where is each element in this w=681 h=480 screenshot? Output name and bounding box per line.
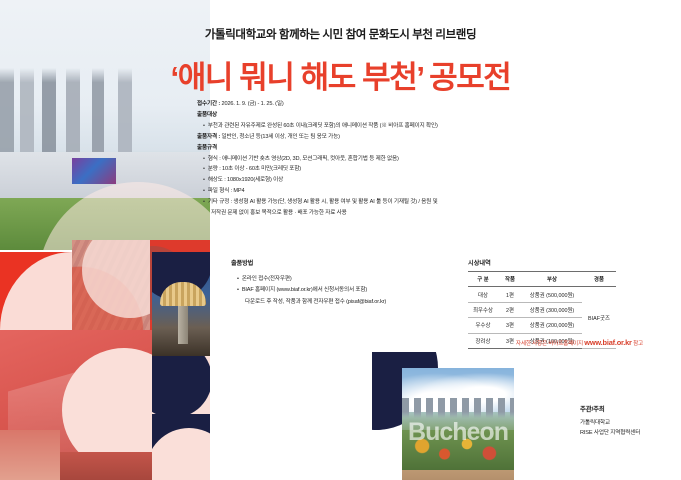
photo-brick-path	[72, 240, 150, 330]
cell-count: 3편	[498, 318, 522, 333]
bucheon-sign-text: Bucheon	[406, 418, 510, 447]
cream-curve-overlay	[82, 240, 150, 318]
header-kicker: 가톨릭대학교와 함께하는 시민 참여 문화도시 부천 리브랜딩	[0, 26, 681, 42]
apply-item-download-cont: 다운로드 후 작성, 작품과 함께 전자우편 접수 (pisaf@biaf.or…	[231, 297, 446, 308]
how-to-apply-block: 출품방법 온라인 접수(전자우편) BIAF 홈페이지 (www.biaf.or…	[231, 258, 446, 308]
apply-item-download: BIAF 홈페이지 (www.biaf.or.kr)에서 신청서동의서 포함)	[231, 285, 446, 296]
col-header-grade: 구 분	[468, 272, 498, 287]
cell-prize: 상품권 (300,000원)	[522, 302, 582, 317]
cell-grade: 최우수상	[468, 302, 498, 317]
poster-canvas: Bucheon 가톨릭대학교와 함께하는 시민 참여 문화도시 부천 리브랜딩 …	[0, 0, 681, 480]
spec-item-etc: 기타 규정 : 생성형 AI 활용 가능(단, 생성형 AI 활용 시, 활용 …	[197, 197, 453, 208]
media-screen-shape	[72, 158, 116, 184]
submission-info-block: 접수기간 : 2026. 1. 9. (금) - 1. 25. (일) 출품대상…	[197, 99, 453, 219]
period-value: 2026. 1. 9. (금) - 1. 25. (일)	[222, 101, 284, 107]
poster-header: 가톨릭대학교와 함께하는 시민 참여 문화도시 부천 리브랜딩 ‘애니 뭐니 해…	[0, 26, 681, 97]
website-note: 자세한 사항은 비아프홈페이지 www.biaf.or.kr 참고	[468, 338, 643, 347]
photo-night-tower	[152, 252, 210, 357]
cell-grade: 대상	[468, 287, 498, 302]
navy-lower-shape	[152, 414, 210, 480]
page-title: ‘애니 뭐니 해도 부천’ 공모전	[0, 52, 681, 97]
eligibility-label: 출품자격 :	[197, 134, 222, 140]
website-note-prefix: 자세한 사항은 비아프홈페이지	[516, 341, 584, 347]
col-header-goods: 경품	[582, 272, 616, 287]
target-value: 부천과 관련된 자유주제로 완성된 60초 이내(크레딧 포함)의 애니메이션 …	[197, 121, 453, 132]
host-block: 주관/주최 가톨릭대학교 RISE 사업단 지역협력센터	[580, 404, 675, 439]
cell-count: 1편	[498, 287, 522, 302]
spec-label: 출품규격	[197, 143, 453, 154]
period-row: 접수기간 : 2026. 1. 9. (금) - 1. 25. (일)	[197, 99, 453, 110]
red-quarter-shape	[0, 252, 72, 330]
photo-bucheon-flower-garden: Bucheon	[402, 368, 514, 480]
eligibility-row: 출품자격 : 일반인, 청소년 등(13세 이상, 개인 또는 팀 응모 가능)	[197, 132, 453, 143]
spec-item-resolution: 해상도 : 1080x1920(세로형) 이상	[197, 175, 453, 186]
skyline-shape	[402, 398, 514, 418]
cell-count: 2편	[498, 302, 522, 317]
table-header-row: 구 분 작품 부상 경품	[468, 272, 616, 287]
host-line-2: RISE 사업단 지역협력센터	[580, 428, 675, 438]
website-url[interactable]: www.biaf.or.kr	[584, 338, 631, 347]
target-label: 출품대상	[197, 110, 453, 121]
table-row: 대상 1편 상품권 (500,000원) BIAF굿즈	[468, 287, 616, 302]
cell-prize: 상품권 (200,000원)	[522, 318, 582, 333]
spec-item-filetype: 파일 형식 : MP4	[197, 186, 453, 197]
host-line-1: 가톨릭대학교	[580, 418, 675, 428]
awards-block: 시상내역 구 분 작품 부상 경품 대상 1편 상품권 (500,000원) B…	[468, 258, 628, 349]
navy-circle-shape	[152, 356, 210, 418]
spec-item-duration: 분량 : 10초 이상 - 60초 미만(크레딧 포함)	[197, 164, 453, 175]
awards-label: 시상내역	[468, 258, 628, 267]
col-header-prize: 부상	[522, 272, 582, 287]
host-label: 주관/주최	[580, 404, 675, 416]
spec-item-etc-cont: 저작권 문제 없이 홍보 목적으로 활용 · 배포 가능한 자료 사용	[197, 208, 453, 219]
col-header-count: 작품	[498, 272, 522, 287]
how-to-apply-label: 출품방법	[231, 258, 446, 271]
cell-grade: 우수상	[468, 318, 498, 333]
cream-circle-shape	[152, 428, 210, 480]
period-label: 접수기간 :	[197, 101, 222, 107]
quarter-circle-cutout	[0, 252, 72, 330]
cell-prize: 상품권 (500,000원)	[522, 287, 582, 302]
coral-strip-shape	[0, 430, 60, 480]
eligibility-value: 일반인, 청소년 등(13세 이상, 개인 또는 팀 응모 가능)	[222, 134, 340, 140]
spec-item-format: 형식 : 애니메이션 기반 숏츠 영상(2D, 3D, 모션그래픽, 컷아웃, …	[197, 154, 453, 165]
website-note-suffix: 참고	[632, 341, 643, 347]
apply-item-online: 온라인 접수(전자우편)	[231, 274, 446, 285]
